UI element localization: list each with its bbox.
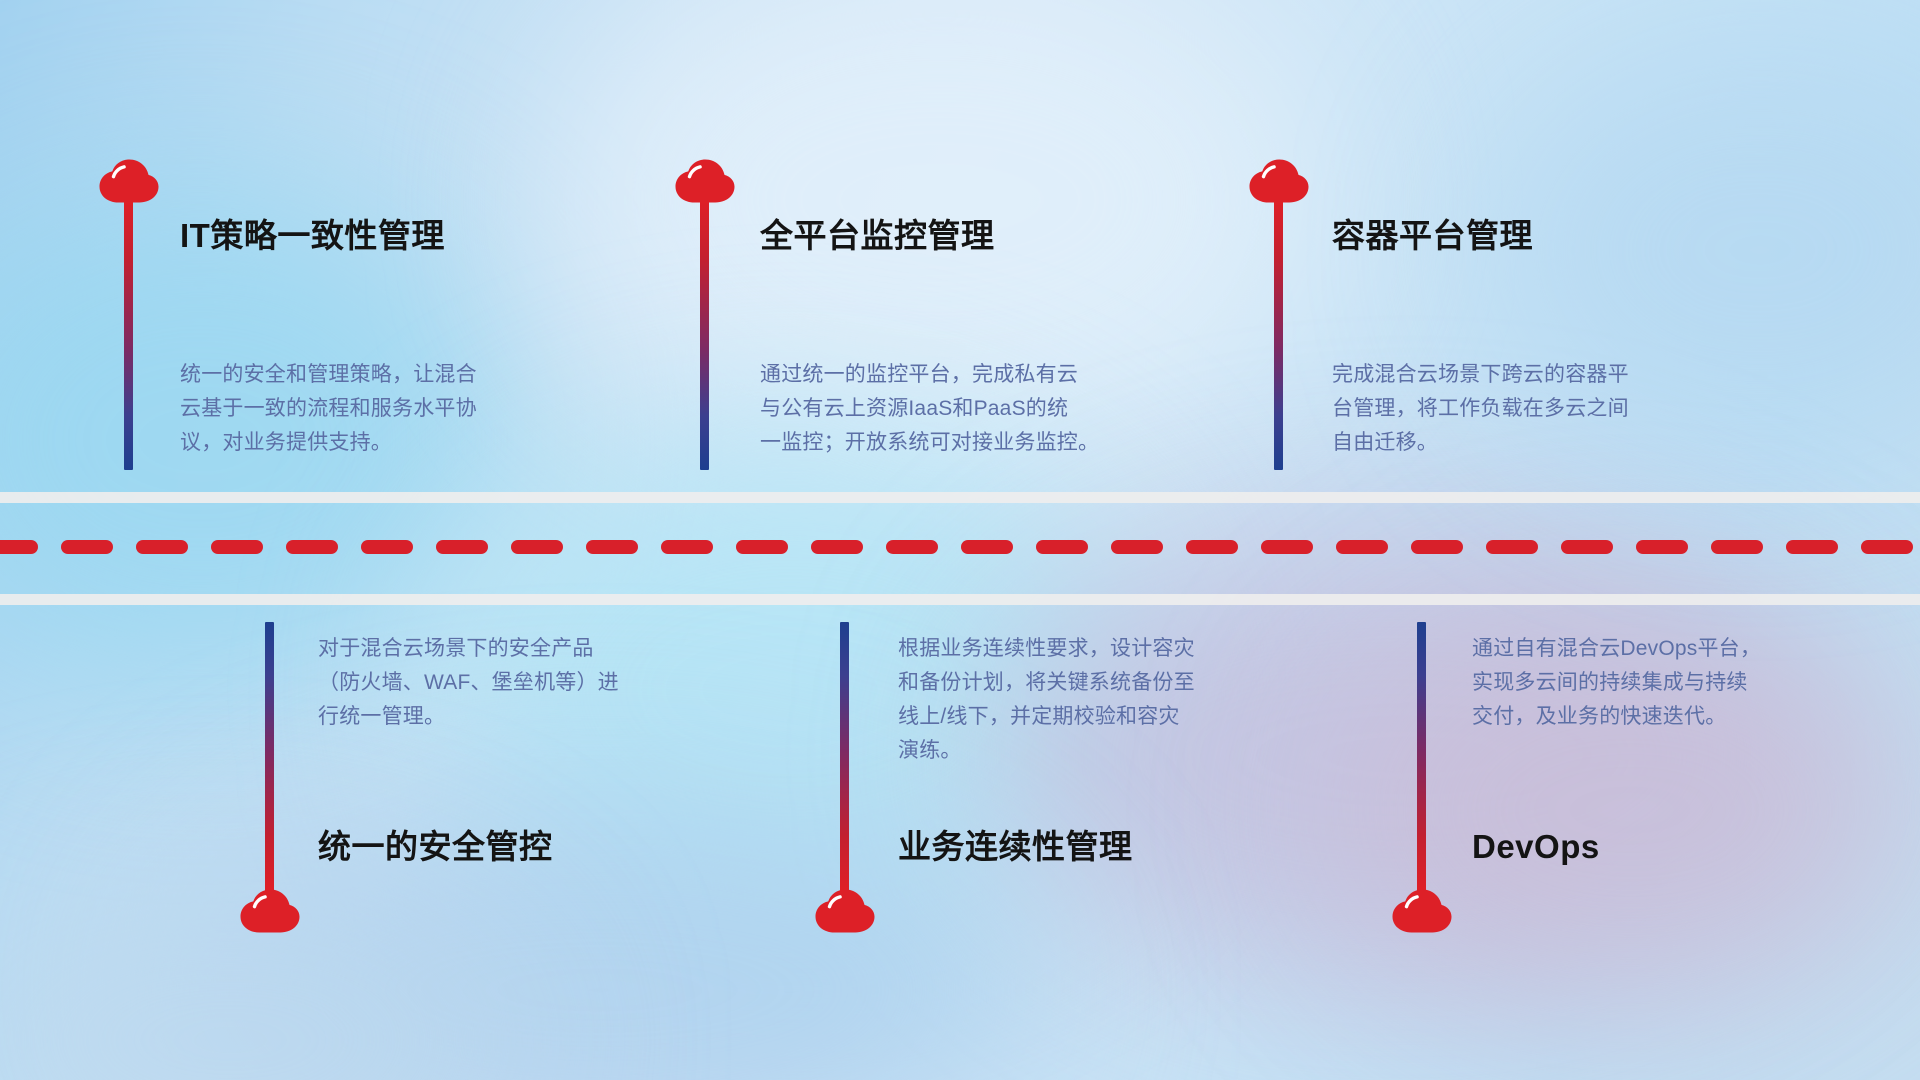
road-dash-segment [886,540,938,554]
pin-stem [265,622,274,892]
description-line: 根据业务连续性要求，设计容灾 [898,632,1328,666]
item-title-unified-security-control: 统一的安全管控 [318,827,553,867]
item-title-devops: DevOps [1472,827,1600,867]
road-edge-bottom [0,594,1920,605]
pin-stem [1417,622,1426,892]
description-line: 云基于一致的流程和服务水平协 [180,392,610,426]
cloud-icon [1391,888,1453,934]
description-line: 台管理，将工作负载在多云之间 [1332,392,1762,426]
item-title-business-continuity-management: 业务连续性管理 [898,827,1133,867]
item-description-it-policy-consistency: 统一的安全和管理策略，让混合云基于一致的流程和服务水平协议，对业务提供支持。 [180,358,610,460]
road-dash-segment [1711,540,1763,554]
road-dashed-centerline [0,540,1920,554]
description-line: 实现多云间的持续集成与持续 [1472,666,1902,700]
cloud-pin-marker [124,158,138,470]
road-dash-segment [61,540,113,554]
road-dash-segment [736,540,788,554]
description-line: 交付，及业务的快速迭代。 [1472,700,1902,734]
road-dash-segment [136,540,188,554]
item-title-container-platform-management: 容器平台管理 [1332,216,1533,256]
road-dash-segment [0,540,38,554]
cloud-pin-marker [700,158,714,470]
description-line: 对于混合云场景下的安全产品 [318,632,748,666]
road-dash-segment [1186,540,1238,554]
description-line: 完成混合云场景下跨云的容器平 [1332,358,1762,392]
road-dash-segment [1411,540,1463,554]
description-line: 行统一管理。 [318,700,748,734]
cloud-pin-marker [265,622,279,932]
item-description-full-platform-monitoring: 通过统一的监控平台，完成私有云与公有云上资源IaaS和PaaS的统一监控；开放系… [760,358,1190,460]
road-dash-segment [436,540,488,554]
item-description-unified-security-control: 对于混合云场景下的安全产品（防火墙、WAF、堡垒机等）进行统一管理。 [318,632,748,734]
description-line: 与公有云上资源IaaS和PaaS的统 [760,392,1190,426]
road-dash-segment [286,540,338,554]
cloud-icon [239,888,301,934]
road-dash-segment [1861,540,1913,554]
road-dash-segment [1786,540,1838,554]
item-title-full-platform-monitoring: 全平台监控管理 [760,216,995,256]
cloud-icon [814,888,876,934]
description-line: 演练。 [898,734,1328,768]
cloud-pin-marker [1417,622,1431,932]
road-edge-top [0,492,1920,503]
description-line: 统一的安全和管理策略，让混合 [180,358,610,392]
road-dash-segment [1561,540,1613,554]
item-description-devops: 通过自有混合云DevOps平台，实现多云间的持续集成与持续交付，及业务的快速迭代… [1472,632,1902,734]
description-line: 线上/线下，并定期校验和容灾 [898,700,1328,734]
road-dash-segment [1486,540,1538,554]
road-dash-segment [1636,540,1688,554]
description-line: （防火墙、WAF、堡垒机等）进 [318,666,748,700]
pin-stem [124,198,133,470]
cloud-pin-marker [1274,158,1288,470]
road-dash-segment [586,540,638,554]
cloud-icon [1248,158,1310,204]
cloud-pin-marker [840,622,854,932]
cloud-icon [674,158,736,204]
item-description-container-platform-management: 完成混合云场景下跨云的容器平台管理，将工作负载在多云之间自由迁移。 [1332,358,1762,460]
item-description-business-continuity-management: 根据业务连续性要求，设计容灾和备份计划，将关键系统备份至线上/线下，并定期校验和… [898,632,1328,768]
road-dash-segment [961,540,1013,554]
road-dash-segment [361,540,413,554]
road-dash-segment [511,540,563,554]
description-line: 自由迁移。 [1332,426,1762,460]
description-line: 议，对业务提供支持。 [180,426,610,460]
road-dash-segment [811,540,863,554]
road-dash-segment [1111,540,1163,554]
description-line: 通过自有混合云DevOps平台， [1472,632,1902,666]
road-dash-segment [661,540,713,554]
road-dash-segment [1036,540,1088,554]
item-title-it-policy-consistency: IT策略一致性管理 [180,216,445,256]
road-dash-segment [1261,540,1313,554]
pin-stem [700,198,709,470]
description-line: 一监控；开放系统可对接业务监控。 [760,426,1190,460]
description-line: 通过统一的监控平台，完成私有云 [760,358,1190,392]
infographic-canvas: IT策略一致性管理统一的安全和管理策略，让混合云基于一致的流程和服务水平协议，对… [0,0,1920,1080]
pin-stem [1274,198,1283,470]
road-dash-segment [1336,540,1388,554]
road-dash-segment [211,540,263,554]
description-line: 和备份计划，将关键系统备份至 [898,666,1328,700]
pin-stem [840,622,849,892]
cloud-icon [98,158,160,204]
